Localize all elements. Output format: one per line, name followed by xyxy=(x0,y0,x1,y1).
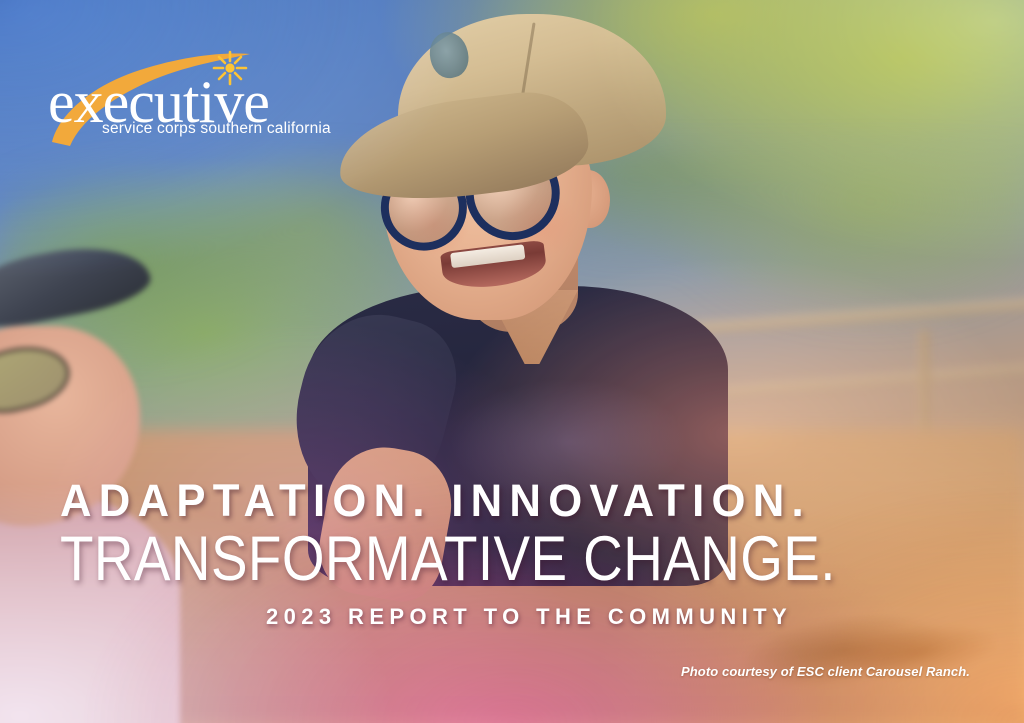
logo-tagline: service corps southern california xyxy=(102,120,331,138)
headline-block: ADAPTATION. INNOVATION. TRANSFORMATIVE C… xyxy=(60,478,980,591)
headline-line-1: ADAPTATION. INNOVATION. xyxy=(60,478,952,524)
headline-line-2: TRANSFORMATIVE CHANGE. xyxy=(60,528,860,591)
photo-credit: Photo courtesy of ESC client Carousel Ra… xyxy=(681,664,970,679)
report-subtitle: 2023 REPORT TO THE COMMUNITY xyxy=(266,604,792,630)
esc-logo[interactable]: executive service corps southern califor… xyxy=(44,46,344,150)
report-cover: executive service corps southern califor… xyxy=(0,0,1024,723)
